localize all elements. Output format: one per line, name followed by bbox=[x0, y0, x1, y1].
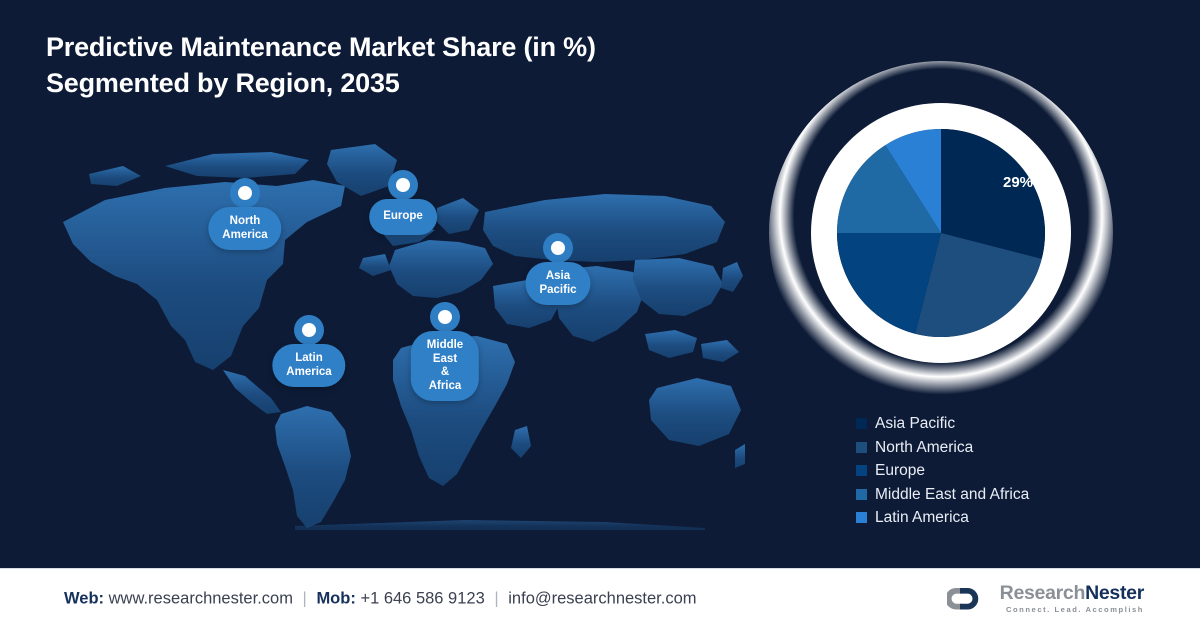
legend-swatch bbox=[856, 512, 867, 523]
research-nester-logo[interactable]: ResearchNester Connect. Lead. Accomplish bbox=[947, 583, 1144, 613]
logo-text-block: ResearchNester Connect. Lead. Accomplish bbox=[1000, 583, 1144, 613]
world-map: North America Europe Asia Pacific Latin … bbox=[45, 130, 745, 530]
pin-dot-icon bbox=[302, 323, 316, 337]
legend-item-latin-america[interactable]: Latin America bbox=[856, 506, 1029, 530]
infographic-canvas: Predictive Maintenance Market Share (in … bbox=[0, 0, 1200, 628]
footer-web-label: Web: bbox=[64, 589, 104, 607]
logo-link-icon bbox=[947, 586, 991, 612]
pie-slices bbox=[837, 129, 1045, 337]
map-pin-label-europe: Europe bbox=[369, 199, 437, 235]
page-title-line-2: Segmented by Region, 2035 bbox=[46, 66, 786, 102]
legend-label: Middle East and Africa bbox=[875, 487, 1029, 503]
logo-name: ResearchNester bbox=[1000, 583, 1144, 603]
footer-separator-1: | bbox=[298, 589, 312, 607]
legend-label: Latin America bbox=[875, 510, 969, 526]
legend-item-asia-pacific[interactable]: Asia Pacific bbox=[856, 412, 1029, 436]
legend-swatch bbox=[856, 418, 867, 429]
footer-web-value[interactable]: www.researchnester.com bbox=[109, 589, 293, 607]
logo-tagline: Connect. Lead. Accomplish bbox=[1000, 606, 1144, 614]
legend-label: North America bbox=[875, 440, 973, 456]
pin-dot-icon bbox=[396, 178, 410, 192]
footer-contact-info: Web: www.researchnester.com | Mob: +1 64… bbox=[64, 589, 697, 608]
pin-dot-icon bbox=[438, 310, 452, 324]
footer-bar: Web: www.researchnester.com | Mob: +1 64… bbox=[0, 568, 1200, 628]
pie-chart bbox=[762, 58, 1122, 408]
legend-swatch bbox=[856, 489, 867, 500]
legend-swatch bbox=[856, 465, 867, 476]
pie-chart-svg bbox=[762, 58, 1122, 408]
page-title: Predictive Maintenance Market Share (in … bbox=[46, 30, 786, 102]
legend-item-europe[interactable]: Europe bbox=[856, 459, 1029, 483]
legend-item-middle-east-africa[interactable]: Middle East and Africa bbox=[856, 483, 1029, 507]
chart-legend: Asia Pacific North America Europe Middle… bbox=[856, 412, 1029, 530]
logo-name-research: Research bbox=[1000, 581, 1085, 603]
footer-separator-2: | bbox=[489, 589, 503, 607]
footer-mob-value[interactable]: +1 646 586 9123 bbox=[360, 589, 484, 607]
legend-label: Europe bbox=[875, 463, 925, 479]
map-pin-label-asia-pacific: Asia Pacific bbox=[525, 262, 590, 305]
map-pin-label-north-america: North America bbox=[208, 207, 281, 250]
legend-item-north-america[interactable]: North America bbox=[856, 436, 1029, 460]
legend-swatch bbox=[856, 442, 867, 453]
pie-slice-value-label: 29% bbox=[1003, 174, 1033, 191]
footer-email-value[interactable]: info@researchnester.com bbox=[508, 589, 696, 607]
pin-dot-icon bbox=[238, 186, 252, 200]
logo-name-nester: Nester bbox=[1085, 581, 1144, 603]
legend-label: Asia Pacific bbox=[875, 416, 955, 432]
map-pin-label-latin-america: Latin America bbox=[272, 344, 345, 387]
map-pin-label-middle-east-africa: Middle East & Africa bbox=[411, 331, 479, 401]
page-title-line-1: Predictive Maintenance Market Share (in … bbox=[46, 30, 786, 66]
footer-mob-label: Mob: bbox=[316, 589, 355, 607]
pin-dot-icon bbox=[551, 241, 565, 255]
